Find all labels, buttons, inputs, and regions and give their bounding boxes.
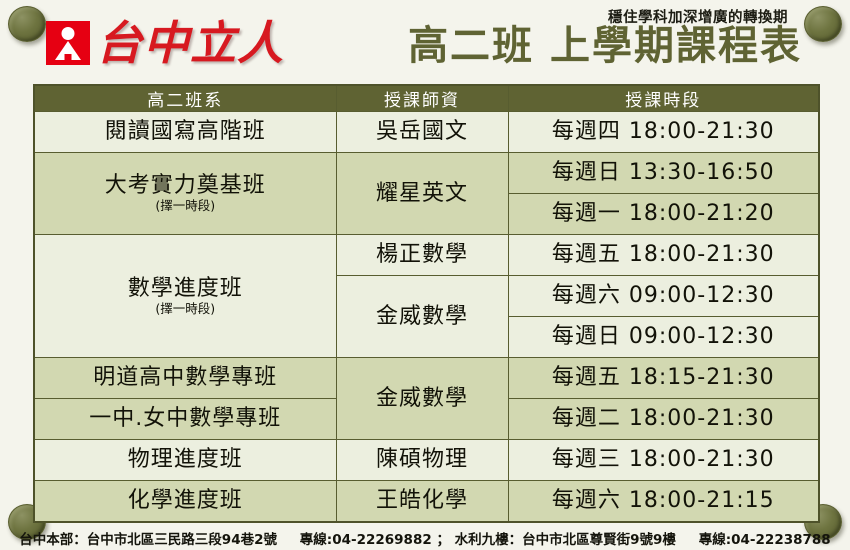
table-row: 閱讀國寫高階班 吳岳國文 每週四 18:00-21:30 <box>34 112 819 153</box>
poster-header: 台中立人 穩住學科加深增廣的轉換期 高二班 上學期課程表 <box>0 0 850 84</box>
time-cell: 每週三 18:00-21:30 <box>508 440 819 481</box>
time-cell: 每週一 18:00-21:20 <box>508 194 819 235</box>
class-name-text: 數學進度班 <box>128 276 243 301</box>
teacher-cell: 楊正數學 <box>336 235 508 276</box>
table-row: 化學進度班 王皓化學 每週六 18:00-21:15 <box>34 481 819 523</box>
class-name-text: 大考實力奠基班 <box>105 173 266 198</box>
class-note-text: (擇一時段) <box>35 302 336 316</box>
class-note-text: (擇一時段) <box>35 199 336 213</box>
time-cell: 每週五 18:00-21:30 <box>508 235 819 276</box>
footer-contact-bar: 台中本部：台中市北區三民路三段94巷2號 專線:04-22269882 ； 水利… <box>0 528 850 548</box>
time-cell: 每週日 09:00-12:30 <box>508 317 819 358</box>
teacher-cell: 吳岳國文 <box>336 112 508 153</box>
time-cell: 每週四 18:00-21:30 <box>508 112 819 153</box>
brand-logo: 台中立人 <box>46 20 284 66</box>
time-cell: 每週五 18:15-21:30 <box>508 358 819 399</box>
teacher-cell: 耀星英文 <box>336 153 508 235</box>
branch-one-phone: 專線:04-22269882 <box>300 532 432 548</box>
course-schedule-poster: 台中立人 穩住學科加深增廣的轉換期 高二班 上學期課程表 高二班系 授課師資 授… <box>0 0 850 550</box>
table-row: 明道高中數學專班 金威數學 每週五 18:15-21:30 <box>34 358 819 399</box>
column-header-time: 授課時段 <box>508 85 819 112</box>
class-name-cell: 閱讀國寫高階班 <box>34 112 336 153</box>
teacher-cell: 陳碩物理 <box>336 440 508 481</box>
class-name-cell: 明道高中數學專班 <box>34 358 336 399</box>
time-cell: 每週六 09:00-12:30 <box>508 276 819 317</box>
class-name-cell: 數學進度班 (擇一時段) <box>34 235 336 358</box>
table-row: 大考實力奠基班 (擇一時段) 耀星英文 每週日 13:30-16:50 <box>34 153 819 194</box>
class-name-cell: 物理進度班 <box>34 440 336 481</box>
time-cell: 每週日 13:30-16:50 <box>508 153 819 194</box>
table-row: 物理進度班 陳碩物理 每週三 18:00-21:30 <box>34 440 819 481</box>
time-cell: 每週二 18:00-21:30 <box>508 399 819 440</box>
teacher-cell: 王皓化學 <box>336 481 508 523</box>
branch-two-address: 水利九樓：台中市北區尊賢街9號9樓 <box>455 532 676 548</box>
class-name-cell: 一中.女中數學專班 <box>34 399 336 440</box>
time-cell: 每週六 18:00-21:15 <box>508 481 819 523</box>
class-name-cell: 化學進度班 <box>34 481 336 523</box>
branch-one-address: 台中本部：台中市北區三民路三段94巷2號 <box>19 532 277 548</box>
branch-two-phone: 專線:04-22238788 <box>699 532 831 548</box>
teacher-cell: 金威數學 <box>336 358 508 440</box>
schedule-table: 高二班系 授課師資 授課時段 閱讀國寫高階班 吳岳國文 每週四 18:00-21… <box>33 84 820 523</box>
page-title: 高二班 上學期課程表 <box>408 24 802 68</box>
table-header-row: 高二班系 授課師資 授課時段 <box>34 85 819 112</box>
brand-name: 台中立人 <box>96 20 284 66</box>
class-name-cell: 大考實力奠基班 (擇一時段) <box>34 153 336 235</box>
footer-divider: ； <box>436 532 450 548</box>
teacher-cell: 金威數學 <box>336 276 508 358</box>
column-header-class: 高二班系 <box>34 85 336 112</box>
column-header-teacher: 授課師資 <box>336 85 508 112</box>
person-mark-icon <box>46 21 90 65</box>
table-row: 數學進度班 (擇一時段) 楊正數學 每週五 18:00-21:30 <box>34 235 819 276</box>
